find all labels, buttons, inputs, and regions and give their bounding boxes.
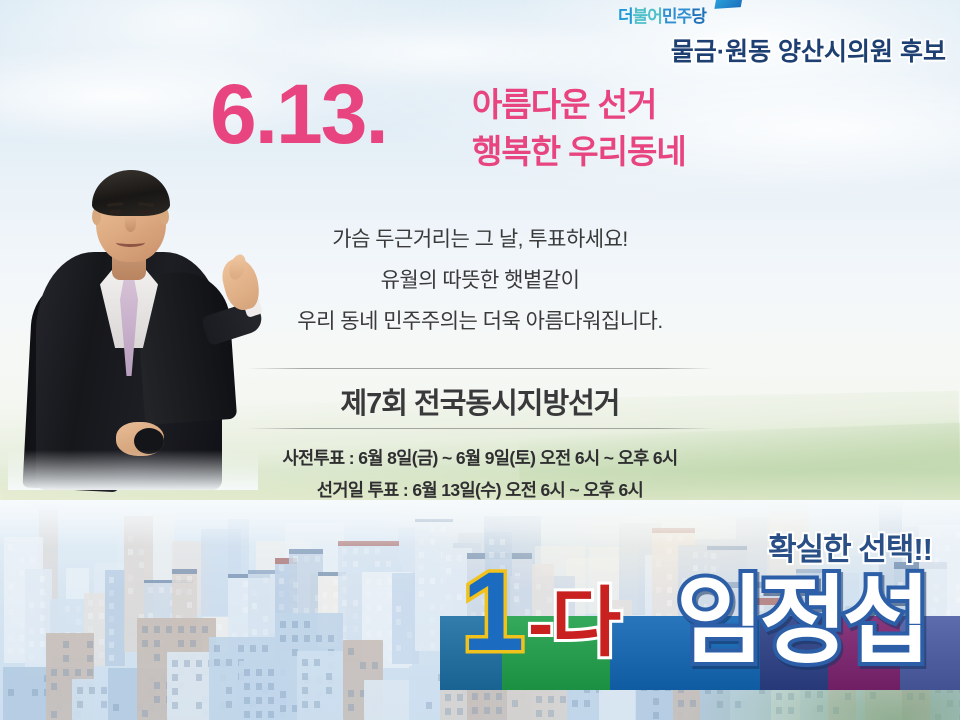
building-window — [353, 626, 358, 632]
verse-line-2: 유월의 따뜻한 햇볕같이 — [240, 261, 720, 302]
building-window — [375, 548, 380, 554]
building-window — [256, 683, 262, 690]
building-window — [279, 578, 284, 584]
building-window — [584, 700, 590, 707]
building-window — [656, 587, 661, 593]
building-window — [128, 536, 133, 542]
building-window — [653, 712, 659, 719]
building-window — [178, 640, 184, 647]
building-window — [101, 687, 107, 694]
building-window — [280, 691, 286, 698]
building-window — [190, 626, 196, 633]
building-window — [29, 628, 34, 634]
candidate-number-suffix: -다 — [528, 586, 619, 662]
building-window — [472, 693, 478, 700]
building-window — [353, 600, 358, 606]
party-logo-seg-4: 당 — [691, 7, 706, 26]
building-window — [472, 707, 478, 714]
building-window — [322, 592, 327, 598]
building-window — [142, 710, 148, 717]
building-window — [113, 704, 119, 711]
building-window — [99, 613, 104, 619]
building-window — [316, 635, 322, 642]
building-window — [75, 669, 81, 676]
building-window — [263, 629, 268, 635]
skyline-building — [105, 570, 126, 666]
election-day-info: 선거일 투표 : 6월 13일(수) 오전 6시 ~ 오후 6시 — [240, 474, 720, 506]
building-window — [353, 561, 358, 567]
building-window — [396, 645, 401, 651]
building-window — [19, 557, 24, 563]
building-window — [386, 561, 391, 567]
building-window — [109, 655, 114, 661]
building-window — [302, 659, 308, 666]
building-window — [154, 626, 160, 633]
portrait-eye-left — [109, 210, 122, 215]
building-window — [77, 687, 83, 694]
building-window — [196, 660, 202, 667]
building-window — [292, 621, 298, 628]
building-window — [101, 701, 107, 708]
election-date-big: 6.13. — [210, 72, 387, 156]
building-window — [407, 632, 412, 638]
building-window — [484, 693, 490, 700]
building-window — [457, 594, 462, 600]
building-window — [196, 674, 202, 681]
building-window — [262, 645, 268, 652]
building-window — [244, 697, 250, 704]
building-window — [430, 539, 435, 545]
building-window — [244, 711, 250, 718]
building-window — [99, 639, 104, 645]
building-window — [40, 589, 45, 595]
building-window — [419, 578, 424, 584]
building-window — [366, 631, 371, 637]
verse-line-1: 가슴 두근거리는 그 날, 투표하세요! — [240, 220, 720, 261]
building-window — [366, 579, 371, 585]
building-window — [252, 603, 257, 609]
building-window — [29, 602, 34, 608]
building-window — [76, 619, 81, 625]
party-logo: 더불어민주당 — [618, 2, 706, 27]
candidate-number: 1 — [462, 556, 520, 668]
building-window — [87, 669, 93, 676]
portrait-hair — [92, 170, 170, 216]
building-window — [29, 641, 34, 647]
building-window — [377, 631, 382, 637]
building-window — [667, 548, 672, 554]
building-window — [342, 561, 347, 567]
building-window — [263, 577, 268, 583]
building-window — [40, 602, 45, 608]
building-window — [128, 588, 133, 594]
building-window — [396, 606, 401, 612]
building-window — [293, 556, 298, 562]
building-window — [172, 688, 178, 695]
building-window — [87, 641, 93, 648]
building-window — [109, 642, 114, 648]
skyline-building — [364, 680, 412, 720]
building-window — [19, 635, 24, 641]
building-window — [348, 704, 354, 711]
building-window — [109, 616, 114, 622]
candidate-tagline: 확실한 선택!! — [768, 524, 932, 569]
building-window — [139, 549, 144, 555]
building-window — [348, 690, 354, 697]
building-window — [109, 577, 114, 583]
building-window — [693, 552, 698, 558]
building-window — [348, 648, 354, 655]
building-window — [711, 553, 716, 559]
building-window — [457, 555, 462, 561]
campaign-poster: 더불어민주당 물금·원동 양산시의원 후보 6.13. 아름다운 선거 행복한 … — [0, 0, 960, 720]
building-window — [65, 606, 70, 612]
building-window — [8, 648, 13, 654]
building-window — [484, 707, 490, 714]
building-window — [30, 557, 35, 563]
building-window — [326, 687, 332, 694]
building-window — [656, 561, 661, 567]
building-window — [8, 689, 14, 696]
building-window — [360, 662, 366, 669]
building-window — [51, 711, 57, 718]
building-window — [342, 574, 347, 580]
building-window — [172, 674, 178, 681]
building-window — [446, 568, 451, 574]
building-window — [364, 548, 369, 554]
building-window — [32, 689, 38, 696]
building-window — [88, 626, 93, 632]
building-window — [326, 673, 332, 680]
building-window — [51, 669, 57, 676]
candidate-photo — [8, 160, 258, 490]
building-window — [560, 696, 566, 703]
building-window — [445, 708, 451, 715]
divider-bottom — [248, 428, 714, 429]
building-window — [40, 628, 45, 634]
campaign-slogan: 아름다운 선거 행복한 우리동네 — [472, 82, 686, 176]
building-window — [29, 654, 34, 660]
building-window — [176, 576, 181, 582]
building-window — [172, 702, 178, 709]
building-window — [446, 594, 451, 600]
building-window — [187, 576, 192, 582]
building-window — [154, 696, 160, 703]
building-window — [377, 605, 382, 611]
building-roof — [707, 546, 748, 550]
building-window — [548, 696, 554, 703]
party-logo-seg-2: 불어 — [633, 7, 662, 26]
building-window — [496, 707, 502, 714]
building-window — [226, 701, 232, 708]
building-window — [328, 635, 334, 642]
building-window — [8, 596, 13, 602]
building-window — [314, 659, 320, 666]
building-window — [353, 613, 358, 619]
building-window — [178, 626, 184, 633]
district-title: 물금·원동 양산시의원 후보 — [671, 32, 946, 68]
building-window — [457, 694, 463, 701]
building-window — [353, 548, 358, 554]
building-window — [548, 710, 554, 717]
building-window — [256, 697, 262, 704]
building-window — [243, 594, 248, 600]
building-window — [302, 687, 308, 694]
building-window — [279, 604, 284, 610]
building-window — [934, 545, 939, 551]
building-window — [243, 581, 248, 587]
building-window — [366, 592, 371, 598]
divider-top — [248, 368, 714, 369]
building-window — [667, 535, 672, 541]
building-window — [292, 635, 298, 642]
building-window — [63, 669, 69, 676]
building-window — [8, 544, 13, 550]
building-window — [244, 669, 250, 676]
building-window — [214, 645, 220, 652]
building-window — [945, 545, 950, 551]
early-voting-info: 사전투표 : 6월 8일(금) ~ 6월 9일(토) 오전 6시 ~ 오후 6시 — [240, 442, 720, 474]
building-window — [304, 621, 310, 628]
building-window — [302, 701, 308, 708]
building-window — [419, 565, 424, 571]
building-window — [426, 702, 432, 709]
building-window — [109, 603, 114, 609]
building-window — [214, 659, 220, 666]
building-window — [315, 556, 320, 562]
building-window — [154, 682, 160, 689]
building-window — [109, 629, 114, 635]
building-roof — [652, 528, 695, 533]
building-window — [572, 700, 578, 707]
building-roof — [338, 541, 399, 546]
building-window — [142, 640, 148, 647]
building-window — [375, 561, 380, 567]
building-window — [226, 687, 232, 694]
building-window — [187, 589, 192, 595]
party-logo-seg-1: 더 — [618, 7, 633, 26]
building-window — [88, 600, 93, 606]
building-window — [40, 615, 45, 621]
voting-schedule: 사전투표 : 6월 8일(금) ~ 6월 9일(토) 오전 6시 ~ 오후 6시… — [240, 442, 720, 507]
building-window — [430, 643, 435, 649]
building-window — [19, 622, 24, 628]
building-window — [256, 711, 262, 718]
building-window — [430, 617, 435, 623]
building-window — [304, 635, 310, 642]
candidate-name: 임정섭 — [676, 574, 926, 670]
building-window — [51, 683, 57, 690]
building-window — [109, 590, 114, 596]
building-window — [419, 552, 424, 558]
building-window — [252, 590, 257, 596]
building-window — [19, 570, 24, 576]
building-window — [8, 583, 13, 589]
building-window — [63, 641, 69, 648]
building-window — [268, 711, 274, 718]
building-window — [40, 641, 45, 647]
building-window — [366, 605, 371, 611]
building-window — [496, 693, 502, 700]
building-window — [226, 659, 232, 666]
building-window — [99, 600, 104, 606]
building-window — [148, 587, 153, 593]
building-window — [446, 555, 451, 561]
building-roof — [415, 519, 452, 522]
building-window — [619, 607, 624, 613]
building-window — [377, 579, 382, 585]
building-window — [678, 535, 683, 541]
building-window — [934, 558, 939, 564]
building-window — [128, 549, 133, 555]
building-window — [280, 705, 286, 712]
building-window — [667, 587, 672, 593]
building-window — [8, 609, 13, 615]
building-window — [500, 539, 505, 545]
building-window — [430, 526, 435, 532]
party-logo-seg-3: 민주 — [662, 7, 691, 26]
portrait-bottom-fade — [8, 450, 258, 490]
building-window — [956, 584, 960, 590]
building-window — [304, 556, 309, 562]
building-window — [342, 587, 347, 593]
building-window — [217, 624, 222, 630]
building-window — [176, 589, 181, 595]
building-window — [419, 591, 424, 597]
building-window — [653, 698, 659, 705]
building-window — [512, 700, 518, 707]
building-window — [238, 645, 244, 652]
building-window — [430, 578, 435, 584]
building-window — [342, 626, 347, 632]
building-window — [88, 613, 93, 619]
building-window — [187, 602, 192, 608]
building-window — [430, 604, 435, 610]
building-window — [252, 629, 257, 635]
portrait-mouth — [116, 238, 145, 247]
building-window — [430, 630, 435, 636]
building-window — [342, 600, 347, 606]
building-window — [250, 645, 256, 652]
portrait-nose — [125, 216, 136, 232]
building-window — [139, 562, 144, 568]
portrait-eye-right — [139, 210, 152, 215]
building-window — [667, 574, 672, 580]
building-window — [293, 582, 298, 588]
building-window — [202, 626, 208, 633]
building-window — [184, 660, 190, 667]
election-title: 제7회 전국동시지방선거 — [240, 380, 720, 422]
building-window — [76, 606, 81, 612]
building-window — [279, 591, 284, 597]
building-window — [63, 655, 69, 662]
building-window — [419, 539, 424, 545]
building-window — [19, 648, 24, 654]
building-window — [256, 669, 262, 676]
building-window — [244, 683, 250, 690]
building-window — [302, 673, 308, 680]
building-window — [268, 669, 274, 676]
building-window — [159, 587, 164, 593]
building-window — [934, 584, 939, 590]
building-window — [342, 548, 347, 554]
building-window — [154, 640, 160, 647]
building-window — [190, 640, 196, 647]
building-window — [536, 710, 542, 717]
building-window — [489, 539, 494, 545]
building-roof — [289, 549, 323, 553]
building-window — [268, 683, 274, 690]
building-window — [279, 565, 284, 571]
building-window — [142, 626, 148, 633]
building-window — [419, 643, 424, 649]
building-window — [280, 621, 286, 628]
building-window — [441, 526, 446, 532]
building-window — [934, 532, 939, 538]
building-window — [196, 702, 202, 709]
building-window — [314, 701, 320, 708]
building-window — [40, 576, 45, 582]
building-window — [87, 655, 93, 662]
building-window — [372, 662, 378, 669]
slogan-line-1: 아름다운 선거 — [472, 82, 686, 129]
building-window — [457, 708, 463, 715]
building-window — [268, 697, 274, 704]
building-window — [154, 654, 160, 661]
building-window — [243, 607, 248, 613]
building-window — [77, 701, 83, 708]
verse-line-3: 우리 동네 민주주의는 더욱 아름다워집니다. — [240, 302, 720, 343]
building-window — [263, 616, 268, 622]
building-window — [366, 618, 371, 624]
building-window — [536, 696, 542, 703]
building-window — [956, 532, 960, 538]
building-window — [89, 687, 95, 694]
building-window — [445, 694, 451, 701]
building-window — [293, 595, 298, 601]
building-window — [172, 660, 178, 667]
building-roof — [172, 569, 197, 574]
building-window — [99, 652, 104, 658]
building-window — [128, 575, 133, 581]
building-window — [322, 605, 327, 611]
building-window — [166, 626, 172, 633]
skyline-building — [297, 651, 344, 720]
building-window — [396, 619, 401, 625]
building-window — [280, 635, 286, 642]
building-window — [8, 635, 13, 641]
slogan-line-2: 행복한 우리동네 — [472, 129, 686, 176]
building-window — [377, 592, 382, 598]
campaign-verse: 가슴 두근거리는 그 날, 투표하세요! 유월의 따뜻한 햇볕같이 우리 동네 … — [240, 220, 720, 343]
